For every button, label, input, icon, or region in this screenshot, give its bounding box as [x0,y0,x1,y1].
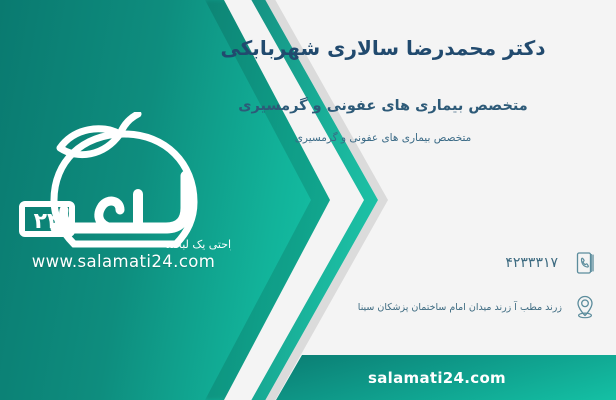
contact-address-row: زرند مطب آ زرند میدان امام ساختمان پزشکا… [358,292,598,322]
doctor-name: دکتر محمدرضا سالاری شهربابکی [168,36,598,60]
logo-badge-text: ۲۴ [34,209,61,234]
business-card: ۲۴ به راحتی یک لبخند www.salamati24.com … [0,0,616,400]
phone-number: ۴۲۳۳۳۱۷ [505,255,572,271]
footer-site: salamati24.com [368,369,524,387]
footer-bar: salamati24.com [276,355,616,400]
contact-phone-row: ۴۲۳۳۳۱۷ [505,248,598,278]
address-text: زرند مطب آ زرند میدان امام ساختمان پزشکا… [358,302,572,313]
phone-book-icon [572,248,598,278]
logo-tagline: به راحتی یک لبخند [166,238,231,251]
specialty-primary: متخصص بیماری های عفونی و گرمسیری [168,98,598,114]
logo-url: www.salamati24.com [16,252,231,271]
specialty-secondary: متخصص بیماری های عفونی و گرمسیری [168,132,598,144]
location-pin-icon [572,292,598,322]
